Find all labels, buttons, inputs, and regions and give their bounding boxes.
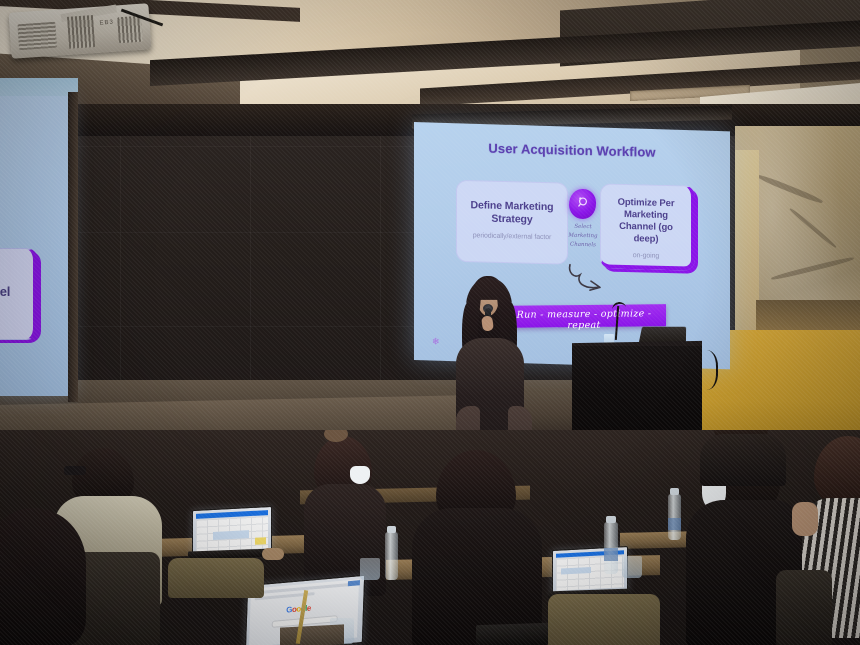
- hand: [792, 502, 818, 536]
- chair: [548, 594, 660, 645]
- secondary-screen-frame: [68, 92, 78, 402]
- bottle-cap: [606, 516, 616, 523]
- list-item: [700, 430, 786, 478]
- projector-vent: [117, 16, 143, 44]
- cable: [690, 350, 718, 390]
- select-channel-hub: [569, 189, 596, 220]
- list-item: [0, 508, 92, 645]
- drinking-glass: [360, 558, 380, 580]
- list-item: [412, 450, 542, 645]
- workflow-card-optimize-channel: Optimize Per Marketing Channel (go deep)…: [600, 183, 695, 270]
- drinking-glass: [622, 556, 642, 578]
- projector-vent: [17, 22, 57, 51]
- google-logo: Google: [286, 603, 311, 614]
- audience-foreground: Google: [0, 430, 860, 645]
- bottle-label: [668, 518, 681, 530]
- workflow-card-define-strategy: Define Marketing Strategy periodically/e…: [456, 180, 568, 265]
- wall-upper-trim: [756, 300, 860, 330]
- chair: [776, 570, 832, 645]
- secondary-screen-text: nel: [0, 284, 32, 299]
- card-subtitle: on-going: [601, 251, 691, 260]
- card-subtitle: periodically/external factor: [457, 232, 567, 242]
- projector-vent: [67, 15, 95, 49]
- bottle-label: [604, 548, 618, 561]
- notepad: [280, 624, 344, 645]
- laptop: [188, 508, 274, 564]
- tablet: [476, 623, 548, 645]
- curved-arrow-icon: [564, 262, 624, 299]
- bottle-cap: [387, 526, 396, 533]
- secondary-projection-screen: nel: [0, 96, 72, 396]
- water-bottle: [385, 532, 398, 580]
- magnifier-icon: [577, 196, 589, 212]
- presentation-photo-scene: EB3 nel User Acquisition Workflow: [0, 0, 860, 645]
- slide-title: User Acquisition Workflow: [414, 139, 730, 162]
- chair: [168, 558, 264, 598]
- card-title: Define Marketing Strategy: [457, 199, 567, 228]
- flower-icon: ❄: [432, 337, 441, 346]
- card-title: Optimize Per Marketing Channel (go deep): [601, 196, 691, 246]
- eyeglasses: [64, 466, 86, 475]
- hand: [262, 548, 284, 560]
- water-bottle: [668, 494, 681, 540]
- face-mask: [350, 466, 370, 484]
- bottle-cap: [670, 488, 679, 495]
- projector-model-label: EB3: [99, 20, 114, 27]
